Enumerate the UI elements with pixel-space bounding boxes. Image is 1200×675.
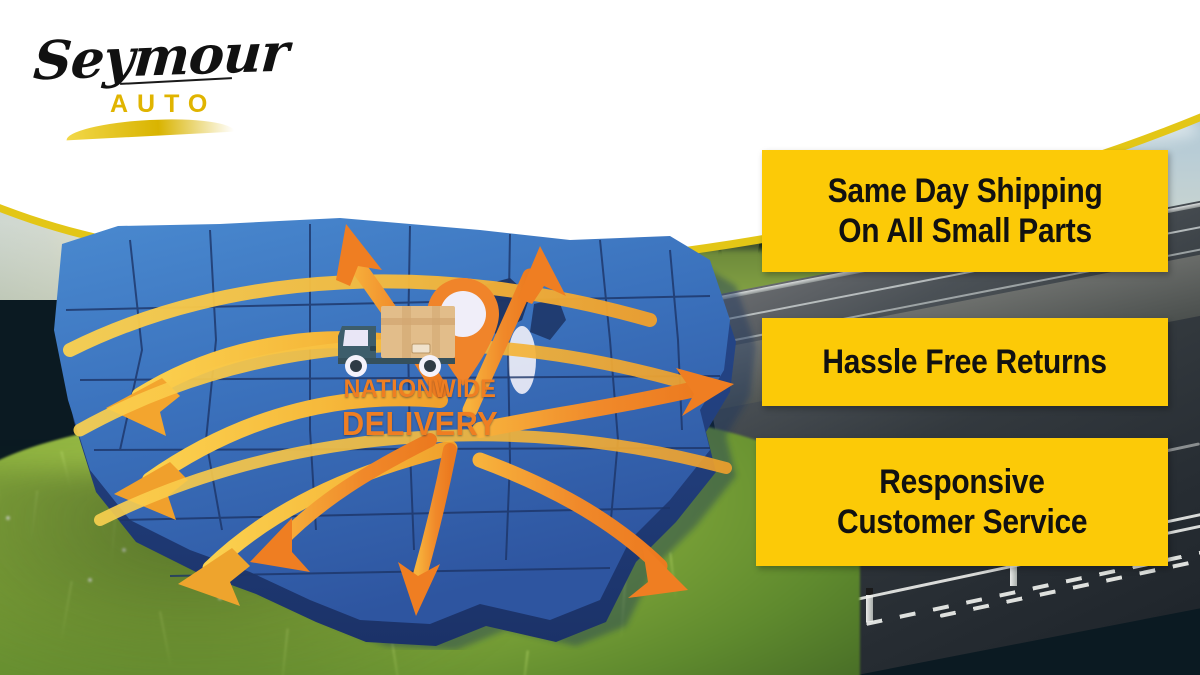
feature-line: Same Day Shipping — [828, 171, 1103, 211]
feature-line: Customer Service — [837, 502, 1087, 542]
promo-banner: Seymour AUTO — [0, 0, 1200, 675]
feature-line: Hassle Free Returns — [823, 342, 1107, 382]
feature-band-hassle-free-returns[interactable]: Hassle Free Returns — [762, 318, 1168, 406]
feature-band-same-day-shipping[interactable]: Same Day Shipping On All Small Parts — [762, 150, 1168, 272]
feature-band-responsive-customer-service[interactable]: Responsive Customer Service — [756, 438, 1168, 566]
roadside-post — [866, 588, 873, 622]
badge-line-1: NATIONWIDE — [327, 375, 513, 404]
feature-line: Responsive — [879, 462, 1044, 502]
brand-logo[interactable]: Seymour AUTO — [28, 20, 238, 130]
logo-sub-name: AUTO — [110, 90, 216, 119]
badge-caption: NATIONWIDE DELIVERY — [320, 375, 520, 443]
delivery-truck-icon — [332, 300, 462, 380]
feature-line: On All Small Parts — [838, 211, 1092, 251]
badge-line-2: DELIVERY — [327, 405, 513, 443]
nationwide-delivery-badge: NATIONWIDE DELIVERY — [320, 270, 520, 455]
